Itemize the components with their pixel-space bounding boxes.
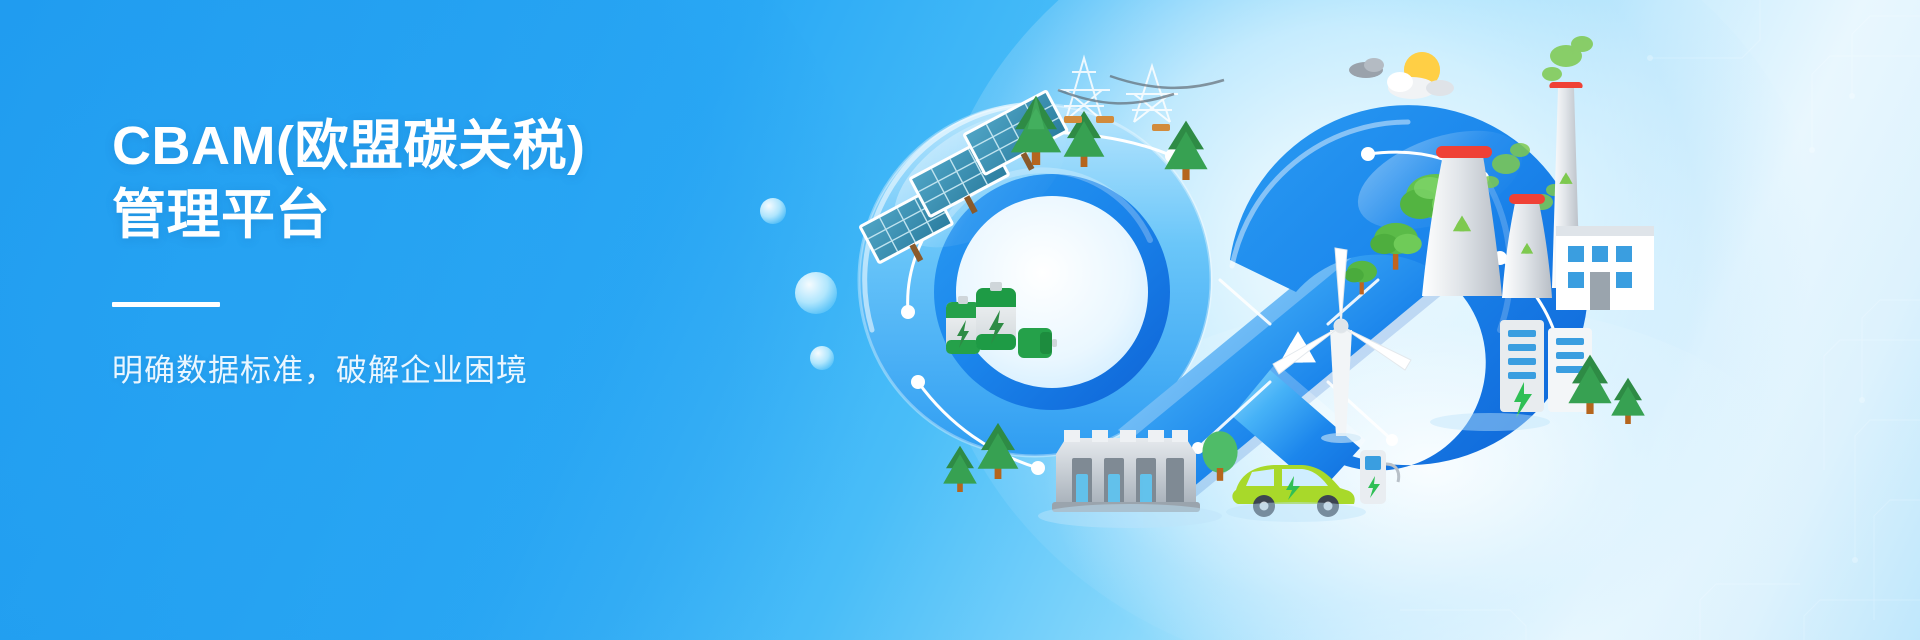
factory-building <box>1556 226 1654 310</box>
page-title: CBAM(欧盟碳关税) 管理平台 <box>112 112 812 250</box>
illustration-svg <box>800 30 1700 630</box>
page-subtitle: 明确数据标准，破解企业困境 <box>112 351 812 391</box>
circular-economy-illustration <box>800 30 1700 630</box>
cbam-hero-banner: CBAM(欧盟碳关税) 管理平台 明确数据标准，破解企业困境 <box>0 0 1920 640</box>
hero-text-block: CBAM(欧盟碳关税) 管理平台 明确数据标准，破解企业困境 <box>112 112 812 392</box>
title-divider <box>112 302 220 307</box>
hydro-dam <box>1052 430 1200 512</box>
charging-station <box>1360 450 1399 504</box>
cloud-icon-dark <box>1349 58 1384 78</box>
page-title-line-1: CBAM(欧盟碳关税) <box>112 112 812 181</box>
page-title-line-2: 管理平台 <box>112 181 812 250</box>
